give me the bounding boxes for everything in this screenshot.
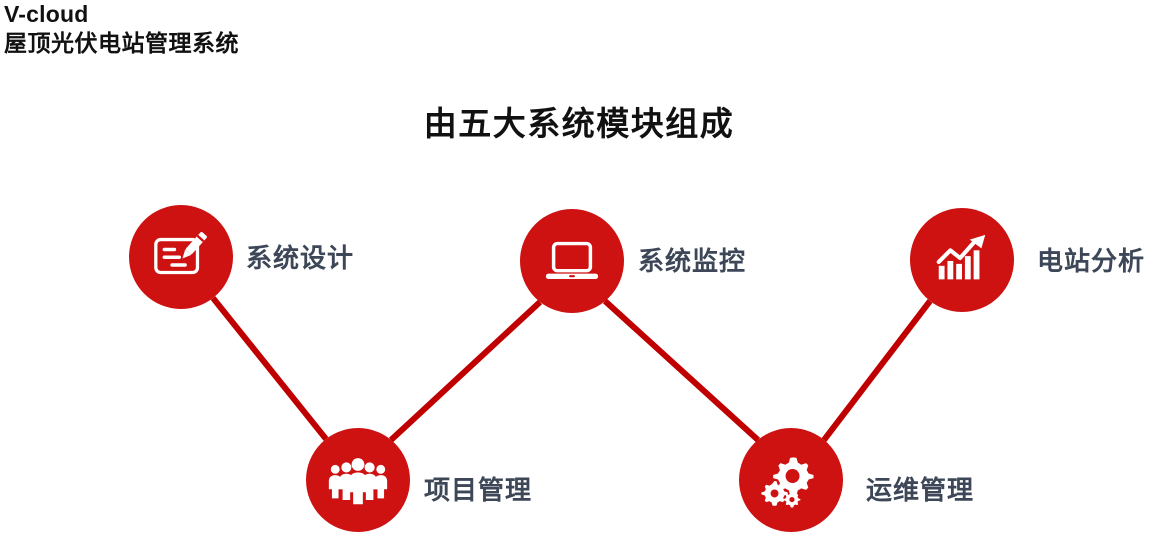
node-label-system-design: 系统设计 [246, 238, 354, 275]
gears-icon [760, 449, 822, 511]
people-group-icon [327, 449, 389, 511]
node-project-management[interactable] [306, 428, 410, 532]
node-label-plant-analysis: 电站分析 [1037, 241, 1145, 278]
connector-om-to-analysis [824, 301, 930, 440]
node-system-design[interactable] [129, 205, 233, 309]
module-diagram: 系统设计 系统监控 电站分析 [0, 0, 1158, 554]
slide-canvas: V-cloud 屋顶光伏电站管理系统 由五大系统模块组成 [0, 0, 1158, 554]
node-label-om-management: 运维管理 [866, 470, 974, 507]
connector-project-to-monitor [391, 302, 540, 440]
growth-chart-icon [931, 229, 993, 291]
connector-design-to-project [213, 298, 326, 439]
node-system-monitoring[interactable] [520, 209, 624, 313]
laptop-icon [541, 230, 603, 292]
node-label-system-monitoring: 系统监控 [638, 241, 746, 278]
node-label-project-management: 项目管理 [424, 470, 532, 507]
connector-monitor-to-om [605, 301, 758, 440]
node-om-management[interactable] [739, 428, 843, 532]
document-pencil-icon [150, 226, 212, 288]
node-plant-analysis[interactable] [910, 208, 1014, 312]
